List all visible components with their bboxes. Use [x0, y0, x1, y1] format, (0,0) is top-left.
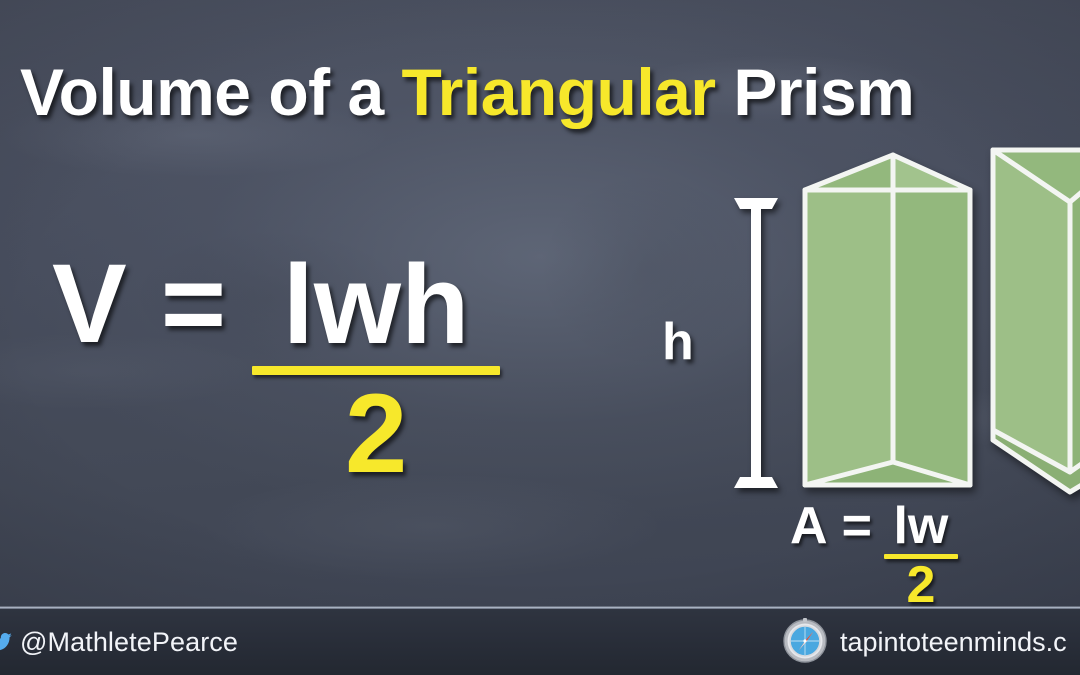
volume-variable: V — [52, 248, 127, 360]
footer-bar: @MathletePearce tapintoteenminds.c — [0, 609, 1080, 675]
volume-fraction: lwh 2 — [252, 248, 500, 491]
website-url[interactable]: tapintoteenminds.c — [840, 627, 1067, 658]
volume-numerator: lwh — [283, 248, 470, 362]
area-equals-sign: = — [842, 500, 872, 552]
height-measure-icon — [734, 198, 778, 488]
area-denominator: 2 — [906, 559, 935, 612]
height-label: h — [662, 312, 694, 372]
title-part-after: Prism — [716, 55, 915, 129]
area-formula: A = lw 2 — [790, 500, 958, 612]
prism-diagram — [780, 140, 1080, 500]
area-fraction: lw 2 — [884, 500, 958, 612]
volume-denominator: 2 — [345, 377, 407, 491]
volume-equals-sign: = — [161, 248, 226, 360]
triangular-prism-icon — [993, 150, 1080, 492]
title-part-before: Volume of a — [20, 55, 402, 129]
area-numerator: lw — [893, 500, 948, 553]
area-variable: A — [790, 500, 828, 552]
safari-compass-icon — [781, 616, 829, 664]
twitter-bird-icon — [0, 633, 12, 651]
triangular-prism-icon — [805, 155, 970, 485]
page-title: Volume of a Triangular Prism — [20, 54, 1080, 130]
volume-formula: V = lwh 2 — [52, 248, 500, 491]
slide-canvas: Volume of a Triangular Prism V = lwh 2 h — [0, 0, 1080, 675]
twitter-handle[interactable]: @MathletePearce — [20, 627, 238, 658]
title-highlight-word: Triangular — [402, 55, 716, 129]
